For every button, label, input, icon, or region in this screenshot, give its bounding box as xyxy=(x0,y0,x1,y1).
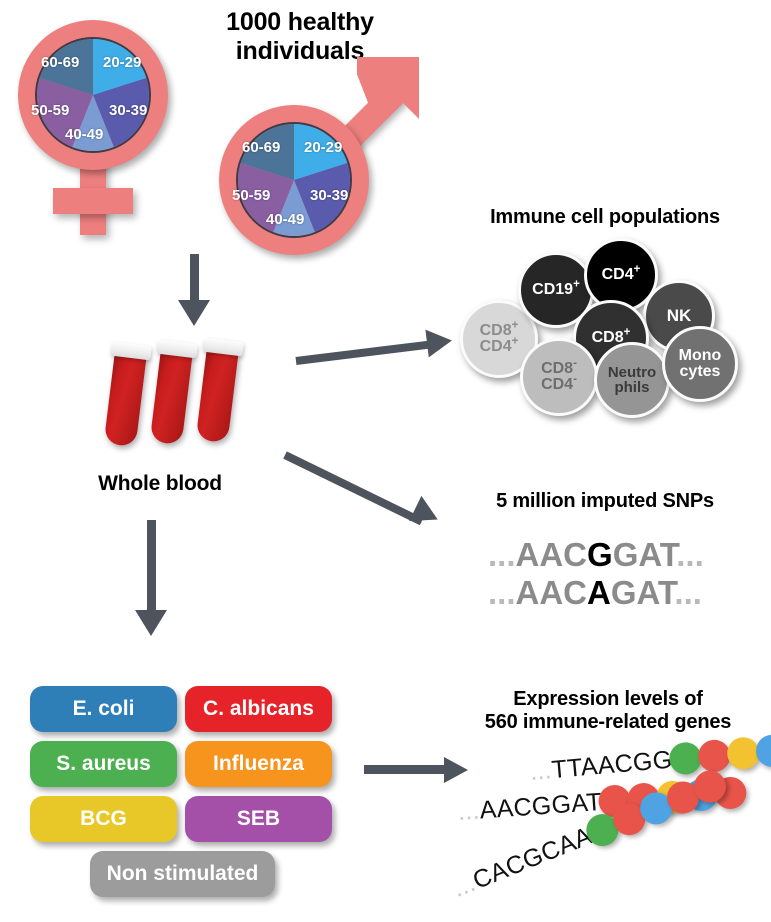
pie-label-50-59: 50-59 xyxy=(232,187,270,204)
female-symbol-crossbar xyxy=(53,188,133,214)
blood-tube-body xyxy=(150,349,193,445)
rna-strand-bases: CACGCAA xyxy=(469,821,596,894)
pie-label-30-39: 30-39 xyxy=(310,187,348,204)
immune-cell-label: Monocytes xyxy=(679,348,722,381)
snp-right: GAT xyxy=(613,536,677,573)
rna-strand-lead: ... xyxy=(529,756,553,786)
pie-label-60-69: 60-69 xyxy=(41,54,79,71)
whole-blood-label: Whole blood xyxy=(80,472,240,496)
stimulus-label: E. coli xyxy=(73,697,135,721)
snp-right: GAT xyxy=(611,574,675,611)
stimulus-s-aureus[interactable]: S. aureus xyxy=(30,741,177,787)
snp-suffix: ... xyxy=(676,536,704,573)
pie-label-40-49: 40-49 xyxy=(65,126,103,143)
stimulus-e-coli[interactable]: E. coli xyxy=(30,686,177,732)
stimulus-label: SEB xyxy=(237,807,280,831)
snp-left: AAC xyxy=(516,574,588,611)
immune-cell-label: CD19+ xyxy=(532,282,580,298)
stimulus-seb[interactable]: SEB xyxy=(185,796,332,842)
expression-heading: Expression levels of 560 immune-related … xyxy=(452,688,764,734)
snp-sequence-row-reference: ...AACGGAT... xyxy=(488,536,704,574)
immune-cell-cd8-cd4-double-negative: CD8-CD4- xyxy=(520,338,598,416)
rna-bead xyxy=(755,734,771,769)
pie-label-60-69: 60-69 xyxy=(242,139,280,156)
stimulus-bcg[interactable]: BCG xyxy=(30,796,177,842)
immune-cell-label: CD8+CD4+ xyxy=(480,323,519,356)
immune-cell-heading: Immune cell populations xyxy=(450,206,760,229)
pie-label-40-49: 40-49 xyxy=(266,211,304,228)
expression-heading-line2: 560 immune-related genes xyxy=(452,711,764,734)
rna-strand-bases: TTAACGG xyxy=(550,745,673,783)
pie-label-30-39: 30-39 xyxy=(109,102,147,119)
immune-cell-label: Neutrophils xyxy=(608,365,656,396)
stimulus-label: BCG xyxy=(80,807,127,831)
rna-strand-bases: AACGGAT xyxy=(479,787,603,823)
immune-cell-label: CD8-CD4- xyxy=(541,361,577,394)
snp-highlight: A xyxy=(587,574,611,611)
whole-blood-tubes xyxy=(110,336,290,456)
pie-label-20-29: 20-29 xyxy=(304,139,342,156)
immune-cell-monocytes: Monocytes xyxy=(662,326,738,402)
stimulus-label: S. aureus xyxy=(56,752,151,776)
rna-bead xyxy=(726,736,761,771)
blood-tube xyxy=(196,338,240,443)
blood-tube xyxy=(150,340,194,445)
rna-strand-lead: ... xyxy=(457,796,481,825)
expression-heading-line1: Expression levels of xyxy=(452,688,764,711)
cohort-heading-line1: 1000 healthy xyxy=(180,8,420,37)
snp-sequence-row-variant: ...AACAGAT... xyxy=(488,574,702,612)
snp-prefix: ... xyxy=(488,574,516,611)
rna-strand-sequence: ...TTAACGG xyxy=(529,745,674,786)
snp-suffix: ... xyxy=(674,574,702,611)
rna-strand-cluster: ...TTAACGG ...AACGGAT ...CACGCAA xyxy=(452,740,771,920)
stimulus-c-albicans[interactable]: C. albicans xyxy=(185,686,332,732)
stimulus-influenza[interactable]: Influenza xyxy=(185,741,332,787)
stimulus-label: Non stimulated xyxy=(107,862,259,886)
stimulus-non-stimulated[interactable]: Non stimulated xyxy=(90,851,275,897)
female-gender-symbol: 20-29 30-39 40-49 50-59 60-69 xyxy=(8,10,183,240)
blood-tube-body xyxy=(104,351,147,447)
immune-cell-label: CD4+ xyxy=(602,267,641,283)
blood-tube-body xyxy=(196,347,239,443)
snps-heading: 5 million imputed SNPs xyxy=(450,490,760,513)
snp-left: AAC xyxy=(516,536,588,573)
stimuli-panel: E. coli C. albicans S. aureus Influenza … xyxy=(30,686,330,898)
immune-cell-cluster: CD8+CD4+ CD19+ CD4+ NK CD8+ CD8-CD4- Neu… xyxy=(460,238,760,420)
stimulus-label: Influenza xyxy=(213,752,304,776)
cohort-heading: 1000 healthy individuals xyxy=(180,8,420,65)
snp-highlight: G xyxy=(587,536,613,573)
snp-prefix: ... xyxy=(488,536,516,573)
pie-label-20-29: 20-29 xyxy=(103,54,141,71)
stimulus-label: C. albicans xyxy=(203,697,314,721)
immune-cell-label: NK xyxy=(667,307,692,324)
pie-label-50-59: 50-59 xyxy=(31,102,69,119)
immune-cell-neutrophils: Neutrophils xyxy=(594,342,670,418)
blood-tube xyxy=(104,342,148,447)
rna-strand-sequence: ...CACGCAA xyxy=(449,821,597,903)
male-gender-symbol: 20-29 30-39 40-49 50-59 60-69 xyxy=(205,75,430,255)
